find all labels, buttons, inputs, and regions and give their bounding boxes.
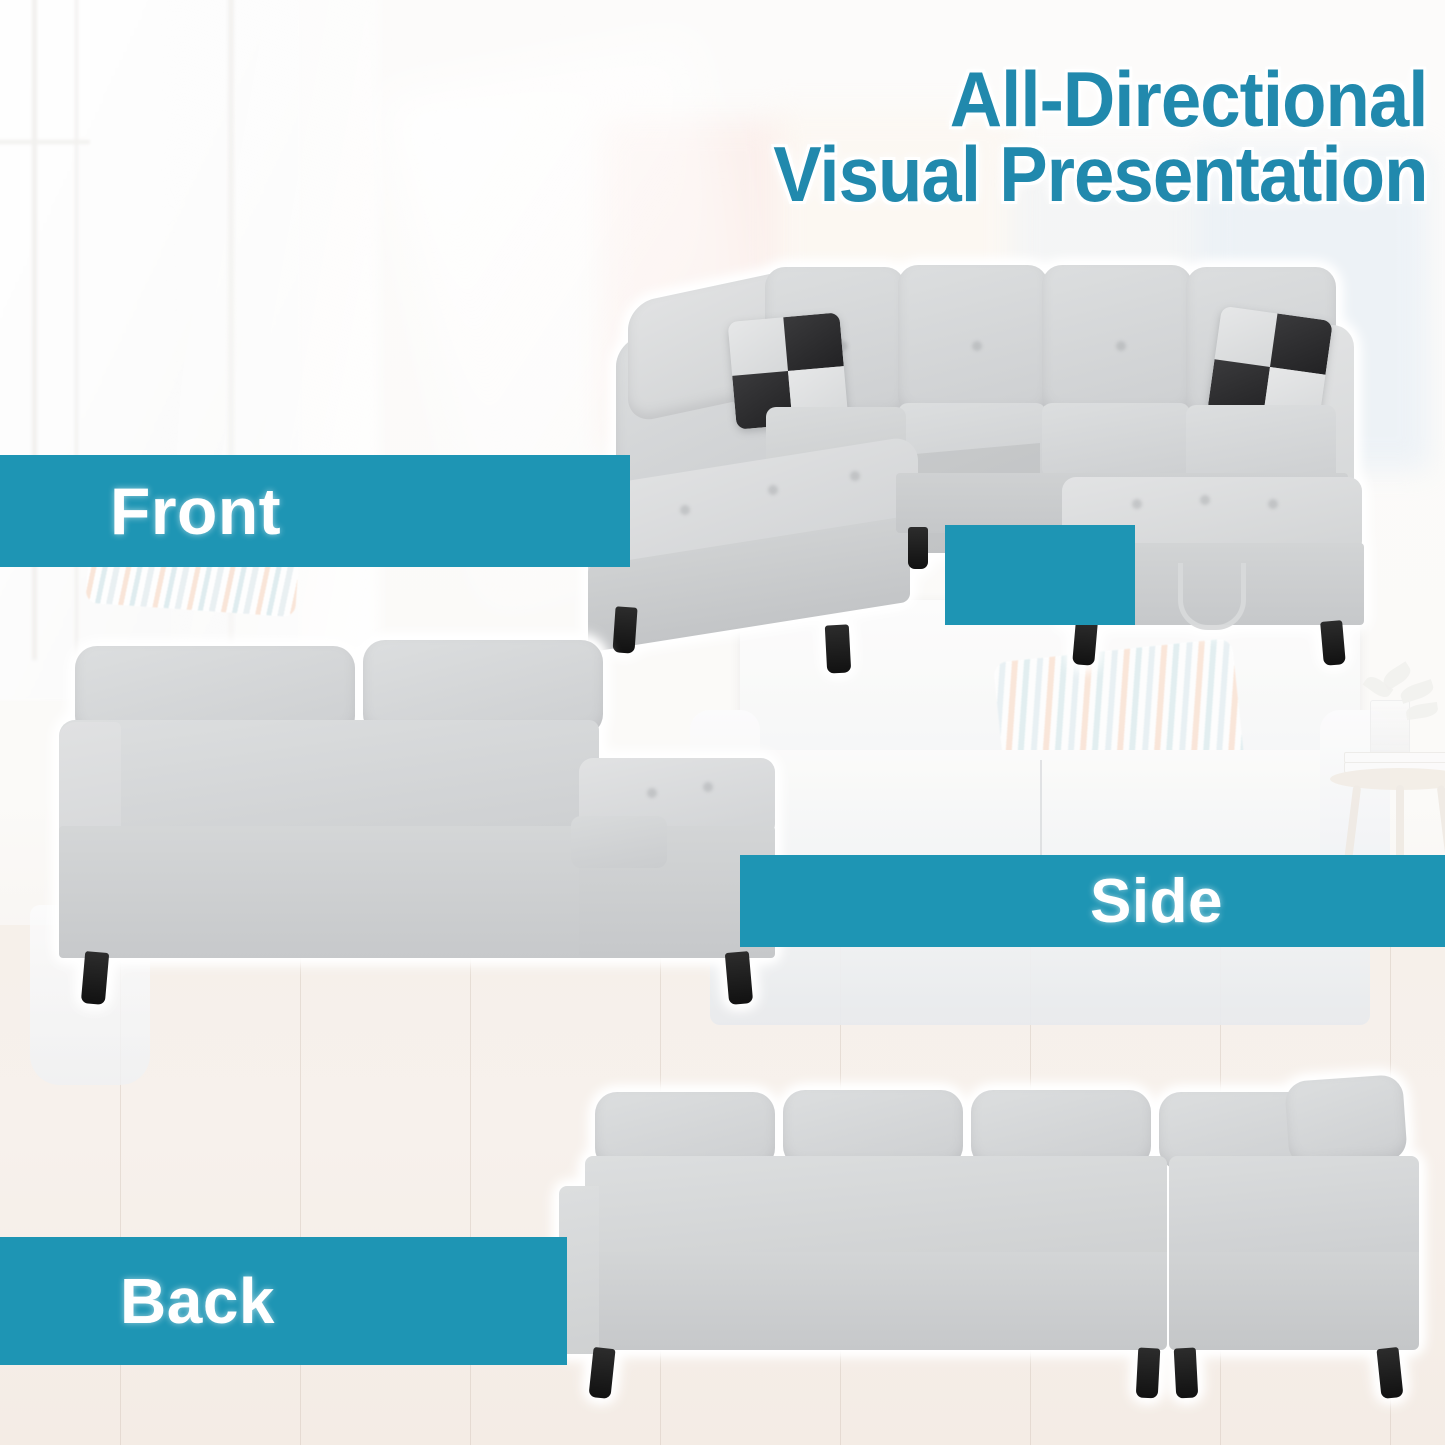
curtain — [170, 0, 380, 740]
label-front-text: Front — [110, 473, 281, 549]
ottoman-pull-strap — [1178, 563, 1246, 630]
label-bar-back: Back — [0, 1237, 567, 1365]
product-view-side — [55, 630, 785, 1025]
vase — [1370, 700, 1410, 757]
label-bar-side: Side — [740, 855, 1445, 947]
label-bar-front: Front — [0, 455, 630, 567]
product-view-back — [555, 1070, 1415, 1445]
side-table-top — [1330, 768, 1445, 790]
label-back-text: Back — [120, 1264, 275, 1338]
headline-line-2: Visual Presentation — [773, 137, 1427, 212]
label-bar-front-fragment — [945, 525, 1135, 625]
product-marketing-image: Front Side Back All-Directional Visual P… — [0, 0, 1445, 1445]
headline: All-Directional Visual Presentation — [773, 62, 1427, 212]
label-side-text: Side — [1090, 866, 1223, 937]
window-mullion — [0, 140, 90, 144]
headline-line-1: All-Directional — [773, 62, 1427, 137]
